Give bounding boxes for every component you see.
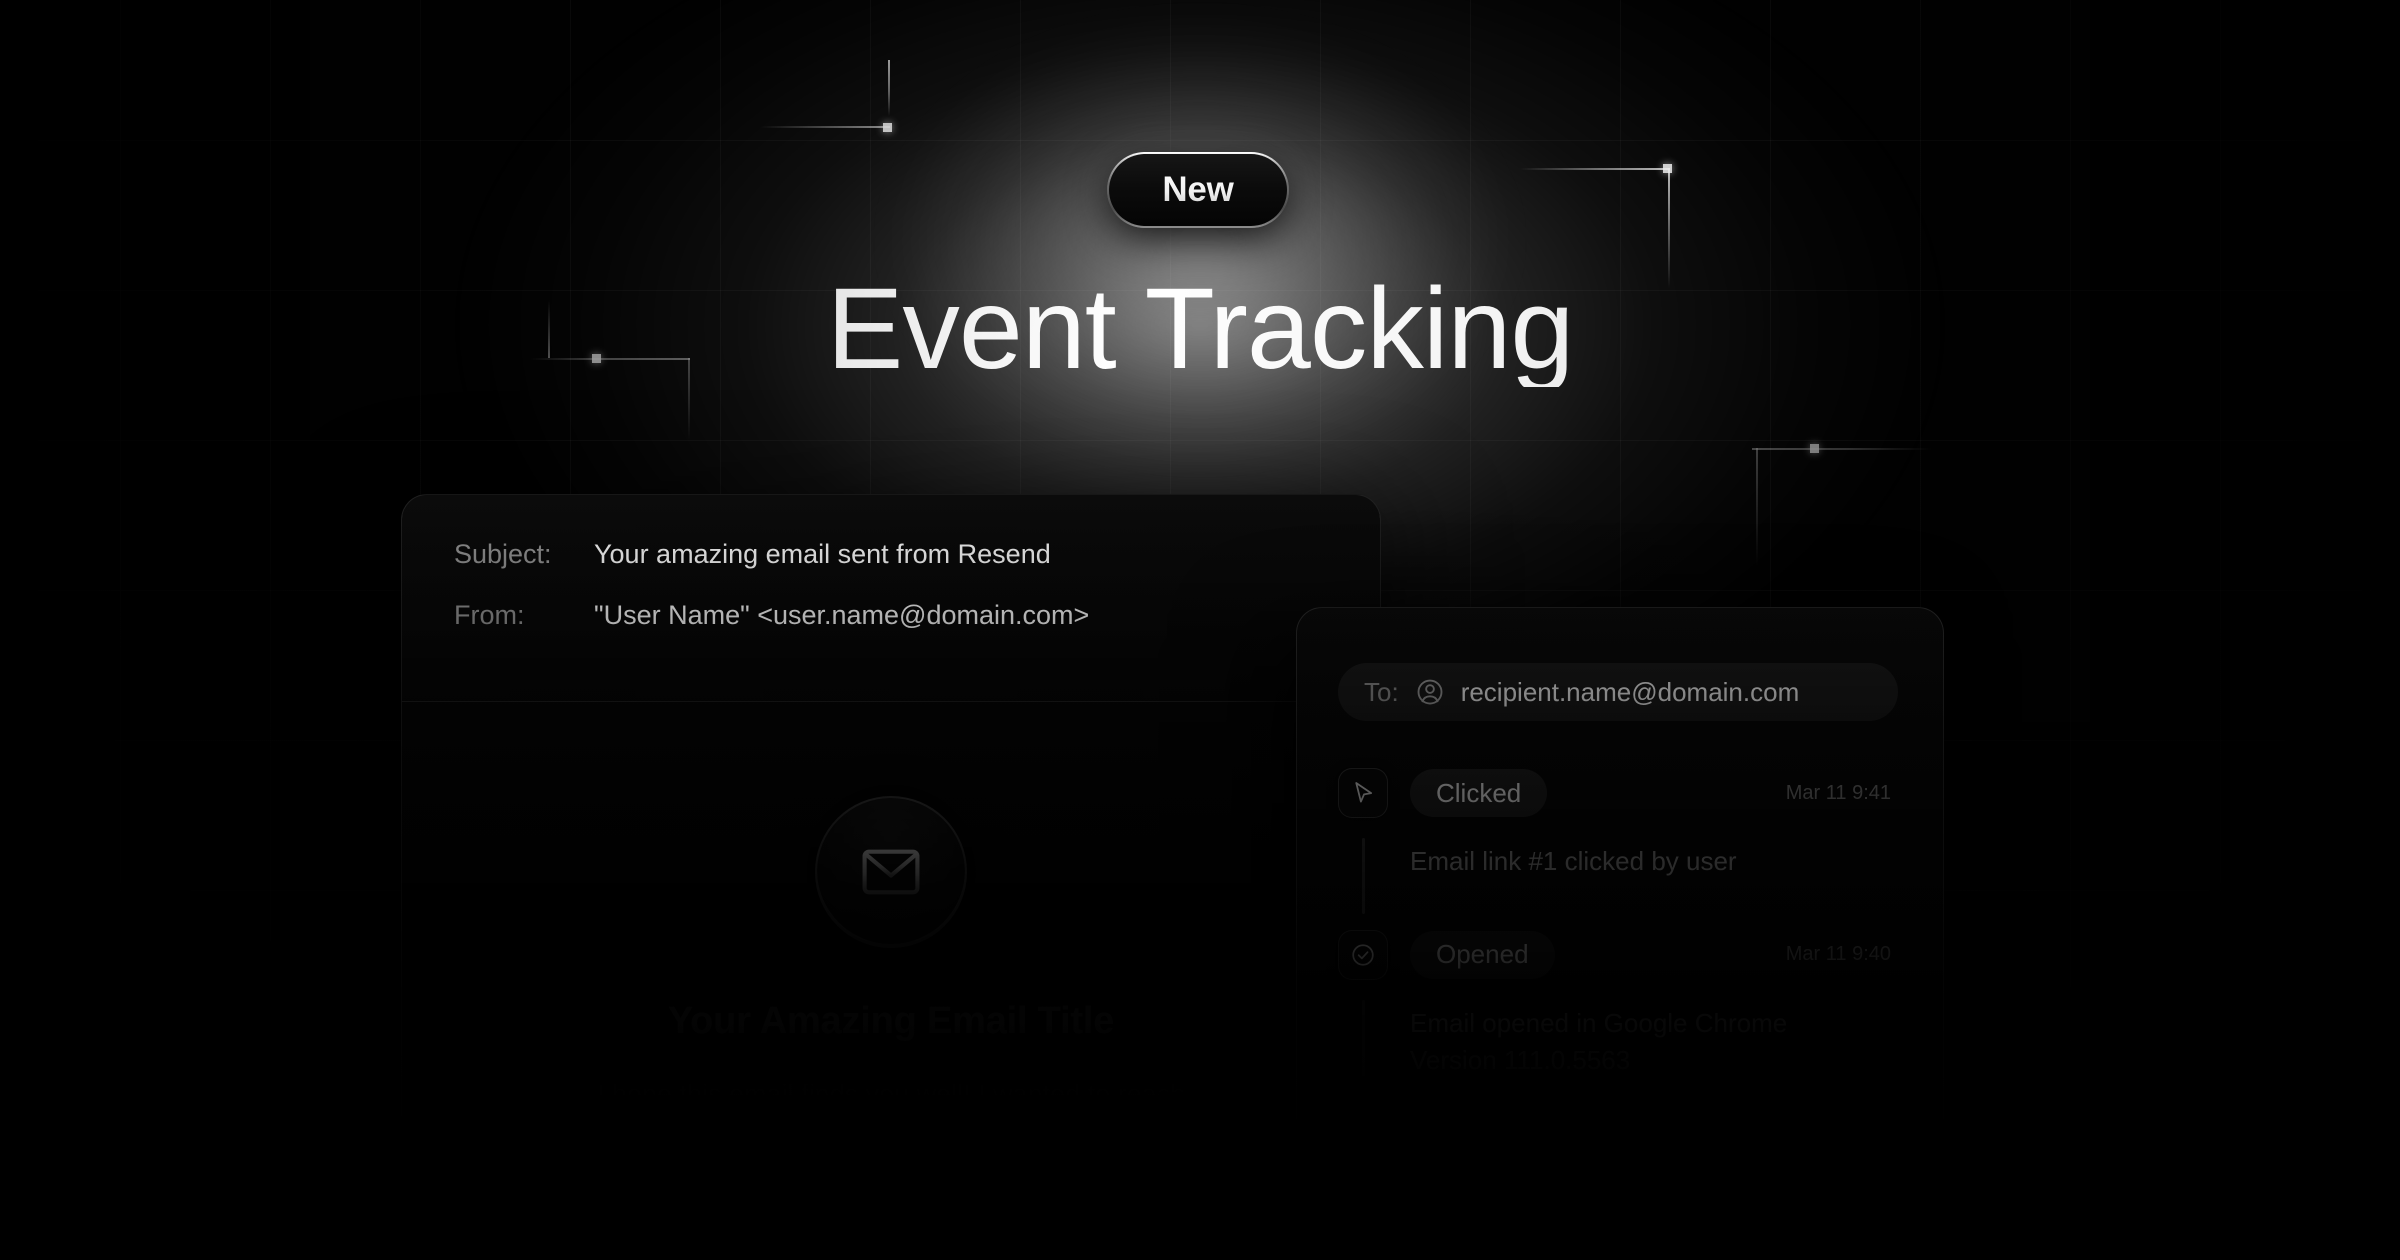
new-badge: New xyxy=(1107,152,1289,228)
new-badge-label: New xyxy=(1162,170,1233,210)
hero-screenshot: New Event Tracking Subject: Your amazing… xyxy=(0,0,2400,1260)
background-vignette-bottom xyxy=(0,500,2400,1260)
page-title: Event Tracking xyxy=(0,272,2400,387)
